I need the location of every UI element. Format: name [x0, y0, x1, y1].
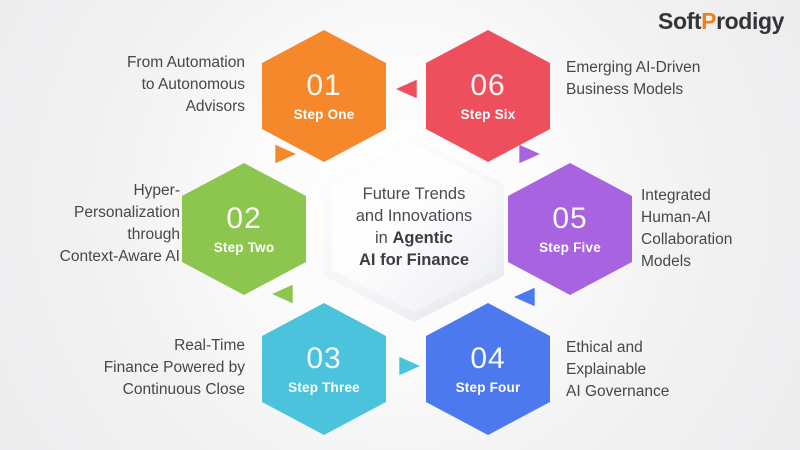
description-step-five-line-3: Collaboration: [641, 231, 732, 248]
description-step-four-line-2: Explainable: [566, 361, 646, 378]
logo-accent-p: P: [701, 8, 716, 35]
description-step-two-line-3: through: [127, 226, 180, 243]
description-step-four: Ethical and Explainable AI Governance: [566, 337, 756, 403]
hexagon-step-six[interactable]: 06 Step Six: [426, 30, 550, 162]
center-title: Future Trends and Innovations in Agentic…: [343, 184, 485, 272]
hexagon-step-three-number: 03: [306, 344, 341, 374]
description-step-five-line-2: Human-AI: [641, 209, 711, 226]
hexagon-step-two-number: 02: [226, 204, 261, 234]
connector-step-four-arrow-icon: [514, 286, 536, 308]
softprodigy-logo: SoftProdigy: [658, 8, 784, 35]
infographic-canvas: SoftProdigy Future Trends and Innovation…: [0, 0, 800, 450]
description-step-five: Integrated Human-AI Collaboration Models: [641, 185, 791, 273]
description-step-four-line-3: AI Governance: [566, 383, 669, 400]
connector-step-five-arrow-icon: [518, 143, 540, 165]
hexagon-step-two[interactable]: 02 Step Two: [182, 163, 306, 295]
hexagon-step-two-label: Step Two: [214, 240, 275, 255]
description-step-three-line-2: Finance Powered by: [104, 359, 245, 376]
center-line-4-bold: AI for Finance: [359, 251, 469, 269]
description-step-two-line-2: Personalization: [74, 204, 180, 221]
logo-text-soft: Soft: [658, 8, 701, 35]
hexagon-step-six-label: Step Six: [461, 107, 516, 122]
center-line-2: and Innovations: [356, 207, 473, 225]
description-step-two-line-4: Context-Aware AI: [60, 248, 180, 265]
description-step-four-line-1: Ethical and: [566, 339, 643, 356]
hexagon-step-one[interactable]: 01 Step One: [262, 30, 386, 162]
description-step-three-line-3: Continuous Close: [123, 381, 245, 398]
hexagon-step-three-label: Step Three: [288, 380, 360, 395]
connector-step-one-arrow-icon: [274, 143, 296, 165]
connector-step-three-arrow-icon: [398, 355, 420, 377]
hexagon-step-one-label: Step One: [294, 107, 355, 122]
logo-text-rodigy: rodigy: [716, 8, 784, 35]
description-step-one-line-3: Advisors: [186, 98, 245, 115]
hexagon-step-five-number: 05: [552, 204, 587, 234]
hexagon-step-four-label: Step Four: [456, 380, 521, 395]
description-step-five-line-4: Models: [641, 253, 691, 270]
hexagon-step-four[interactable]: 04 Step Four: [426, 303, 550, 435]
description-step-two-line-1: Hyper-: [133, 182, 180, 199]
hexagon-step-four-number: 04: [470, 344, 505, 374]
description-step-six-line-2: Business Models: [566, 81, 683, 98]
description-step-one: From Automation to Autonomous Advisors: [55, 52, 245, 118]
hexagon-step-five-label: Step Five: [539, 240, 601, 255]
connector-step-two-arrow-icon: [272, 283, 294, 305]
description-step-two: Hyper- Personalization through Context-A…: [30, 180, 180, 268]
hexagon-step-three[interactable]: 03 Step Three: [262, 303, 386, 435]
hexagon-step-one-number: 01: [306, 71, 341, 101]
center-line-3-prefix: in: [375, 229, 392, 247]
connector-step-six-arrow-icon: [396, 78, 418, 100]
hexagon-step-five[interactable]: 05 Step Five: [508, 163, 632, 295]
center-line-3-bold: Agentic: [392, 229, 453, 247]
description-step-six-line-1: Emerging AI-Driven: [566, 59, 700, 76]
description-step-six: Emerging AI-Driven Business Models: [566, 57, 766, 101]
description-step-three-line-1: Real-Time: [174, 337, 245, 354]
description-step-one-line-1: From Automation: [127, 54, 245, 71]
center-line-1: Future Trends: [363, 185, 466, 203]
description-step-five-line-1: Integrated: [641, 187, 711, 204]
description-step-one-line-2: to Autonomous: [142, 76, 245, 93]
description-step-three: Real-Time Finance Powered by Continuous …: [60, 335, 245, 401]
hexagon-step-six-number: 06: [470, 71, 505, 101]
